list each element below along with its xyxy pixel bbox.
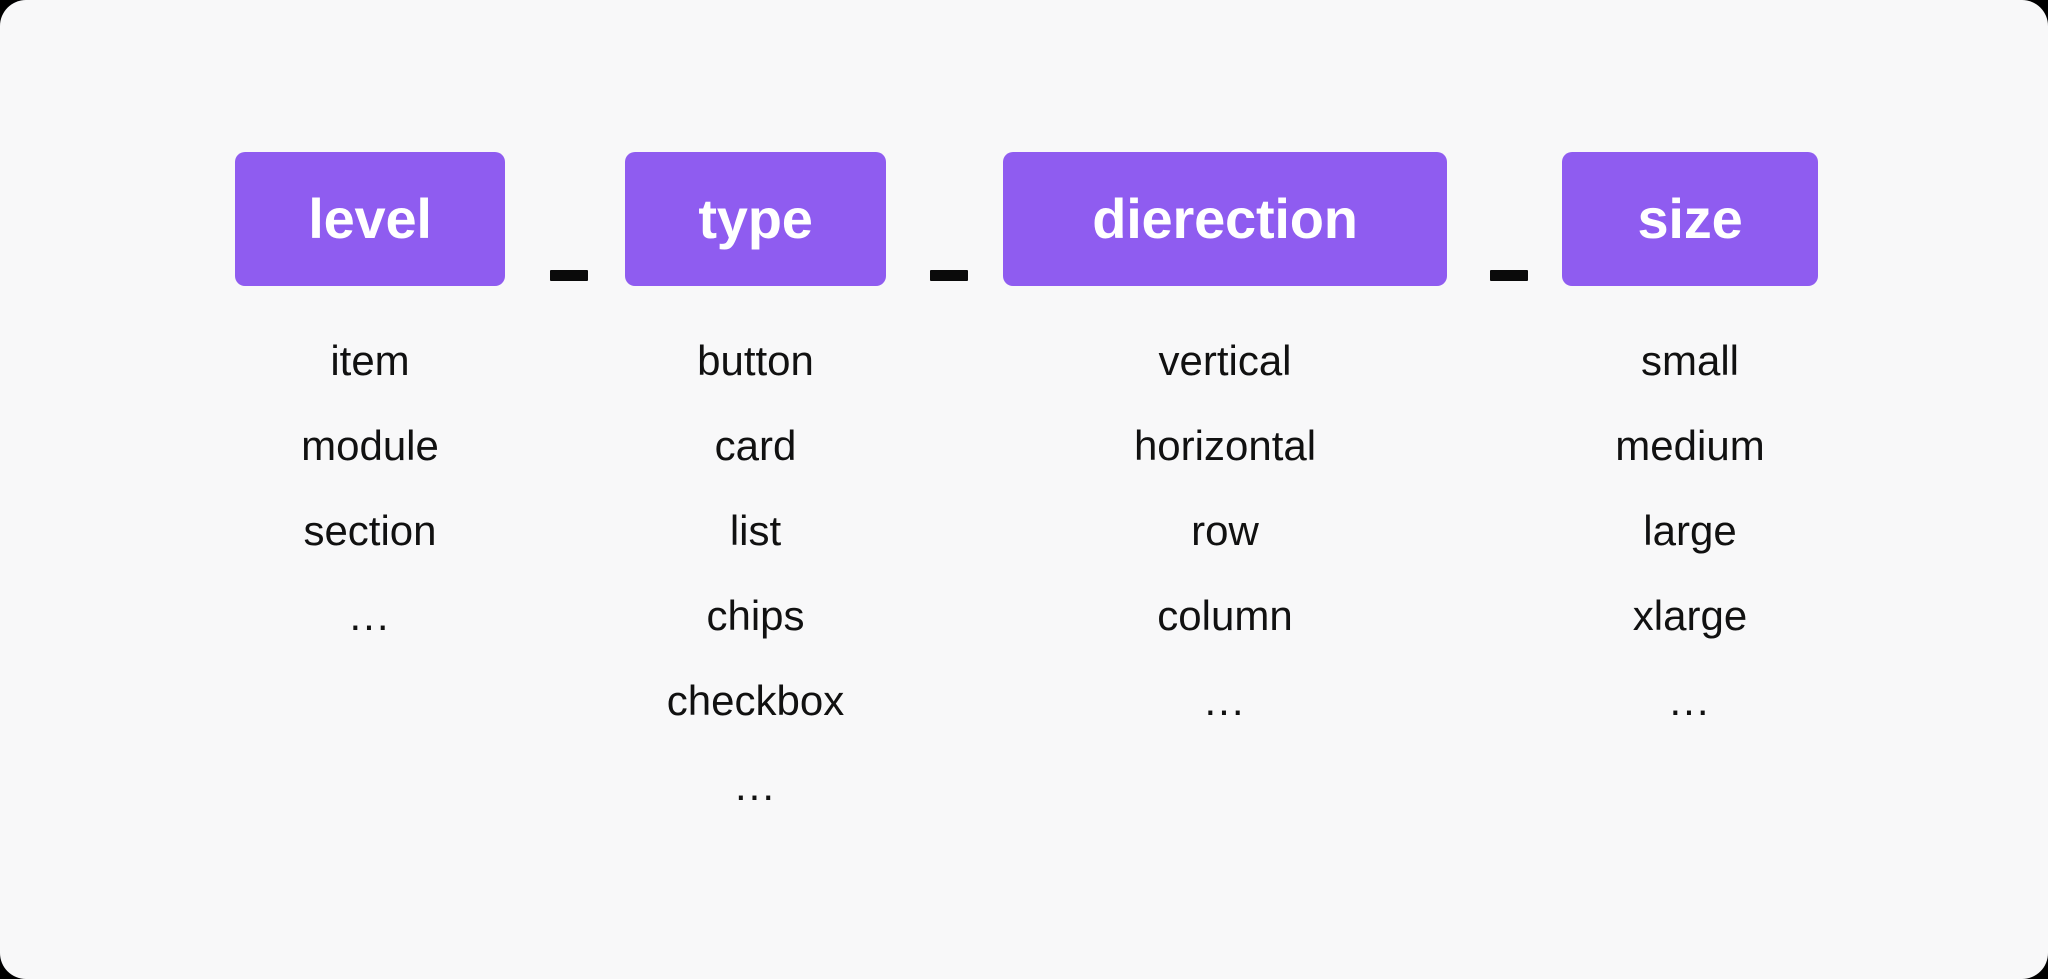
token-separator-1 [930, 270, 968, 281]
option-column-level: item module section ... [235, 340, 505, 680]
option-column-dierection: vertical horizontal row column ... [1003, 340, 1447, 765]
option-item-more: ... [1669, 680, 1710, 722]
option-item[interactable]: medium [1615, 425, 1764, 467]
option-item[interactable]: column [1157, 595, 1292, 637]
option-item[interactable]: section [303, 510, 436, 552]
option-item-more: ... [1204, 680, 1245, 722]
option-item[interactable]: chips [706, 595, 804, 637]
token-chip-dierection[interactable]: dierection [1003, 152, 1447, 286]
option-item[interactable]: large [1643, 510, 1736, 552]
token-chip-size[interactable]: size [1562, 152, 1818, 286]
option-item[interactable]: small [1641, 340, 1739, 382]
option-item[interactable]: xlarge [1633, 595, 1747, 637]
option-item[interactable]: button [697, 340, 814, 382]
option-item-more: ... [349, 595, 390, 637]
option-item[interactable]: module [301, 425, 439, 467]
option-column-size: small medium large xlarge ... [1562, 340, 1818, 765]
token-group-dierection: dierection [1003, 152, 1447, 286]
option-columns: item module section ... button card list… [0, 340, 2048, 840]
token-chip-type[interactable]: type [625, 152, 886, 286]
option-item[interactable]: horizontal [1134, 425, 1316, 467]
token-separator-0 [550, 270, 588, 281]
token-group-level: level [235, 152, 505, 286]
token-separator-2 [1490, 270, 1528, 281]
option-item[interactable]: card [715, 425, 797, 467]
option-item[interactable]: row [1191, 510, 1259, 552]
token-chip-level[interactable]: level [235, 152, 505, 286]
option-item[interactable]: checkbox [667, 680, 844, 722]
option-item[interactable]: vertical [1158, 340, 1291, 382]
option-item[interactable]: item [330, 340, 409, 382]
diagram-canvas: level type dierection size item module s… [0, 0, 2048, 979]
token-group-size: size [1562, 152, 1818, 286]
token-group-type: type [625, 152, 886, 286]
option-item-more: ... [735, 765, 776, 807]
option-column-type: button card list chips checkbox ... [625, 340, 886, 850]
option-item[interactable]: list [730, 510, 781, 552]
token-row: level type dierection size [0, 152, 2048, 286]
